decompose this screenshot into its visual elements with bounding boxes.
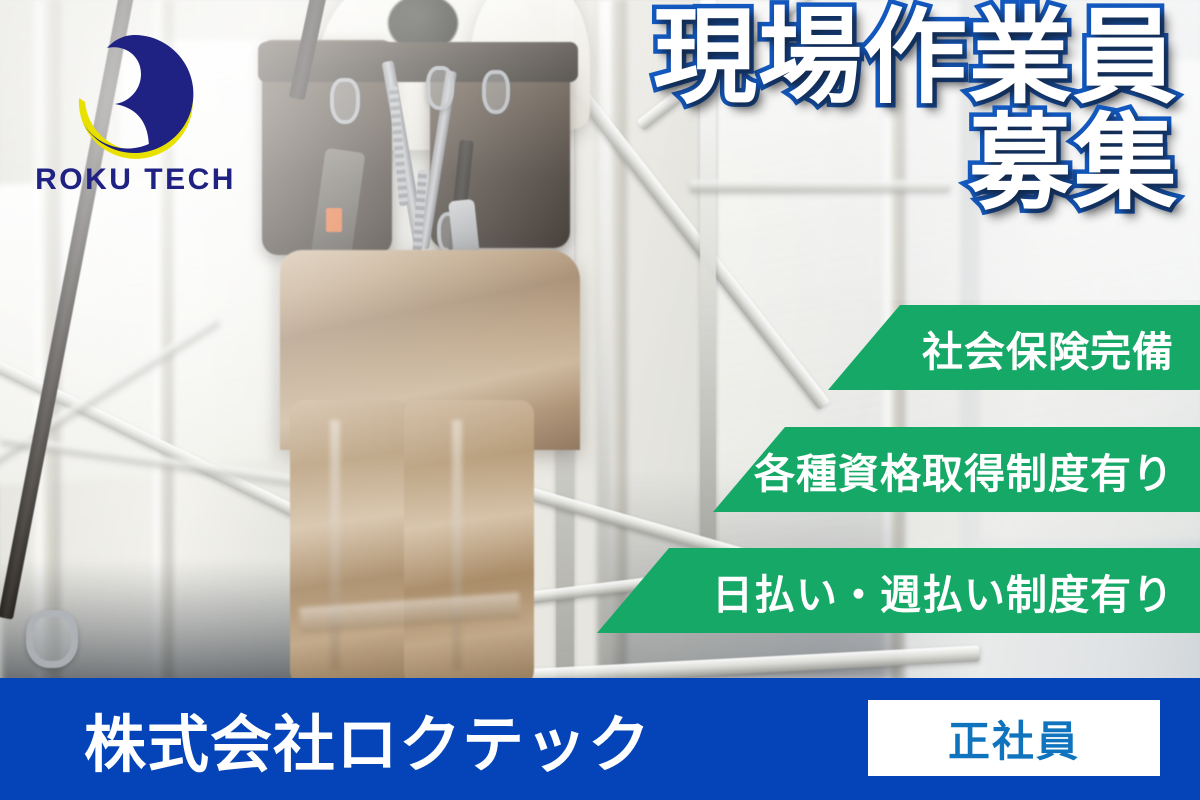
headline: 現場作業員 募集 — [618, 8, 1178, 214]
footer-bar: 株式会社ロクテック 正社員 — [0, 678, 1200, 800]
benefit-banner-3: 日払い・週払い制度有り — [597, 548, 1200, 633]
roku-tech-swirl-mark-icon — [63, 22, 208, 167]
benefit-label-1: 社会保険完備 — [922, 318, 1174, 378]
benefit-label-2: 各種資格取得制度有り — [754, 440, 1174, 500]
headline-line-1: 現場作業員 — [618, 8, 1178, 108]
recruitment-banner: ROKU TECH 現場作業員 募集 社会保険完備 各種資格取得制度有り 日払い… — [0, 0, 1200, 800]
company-logo: ROKU TECH — [18, 22, 253, 197]
benefit-banner-2: 各種資格取得制度有り — [713, 427, 1200, 512]
employment-type-badge: 正社員 — [868, 700, 1160, 776]
logo-wordmark: ROKU TECH — [18, 163, 253, 197]
employment-type-label: 正社員 — [948, 708, 1080, 769]
benefit-label-3: 日払い・週払い制度有り — [712, 561, 1174, 621]
headline-line-2: 募集 — [618, 114, 1178, 214]
company-name: 株式会社ロクテック — [84, 694, 651, 784]
